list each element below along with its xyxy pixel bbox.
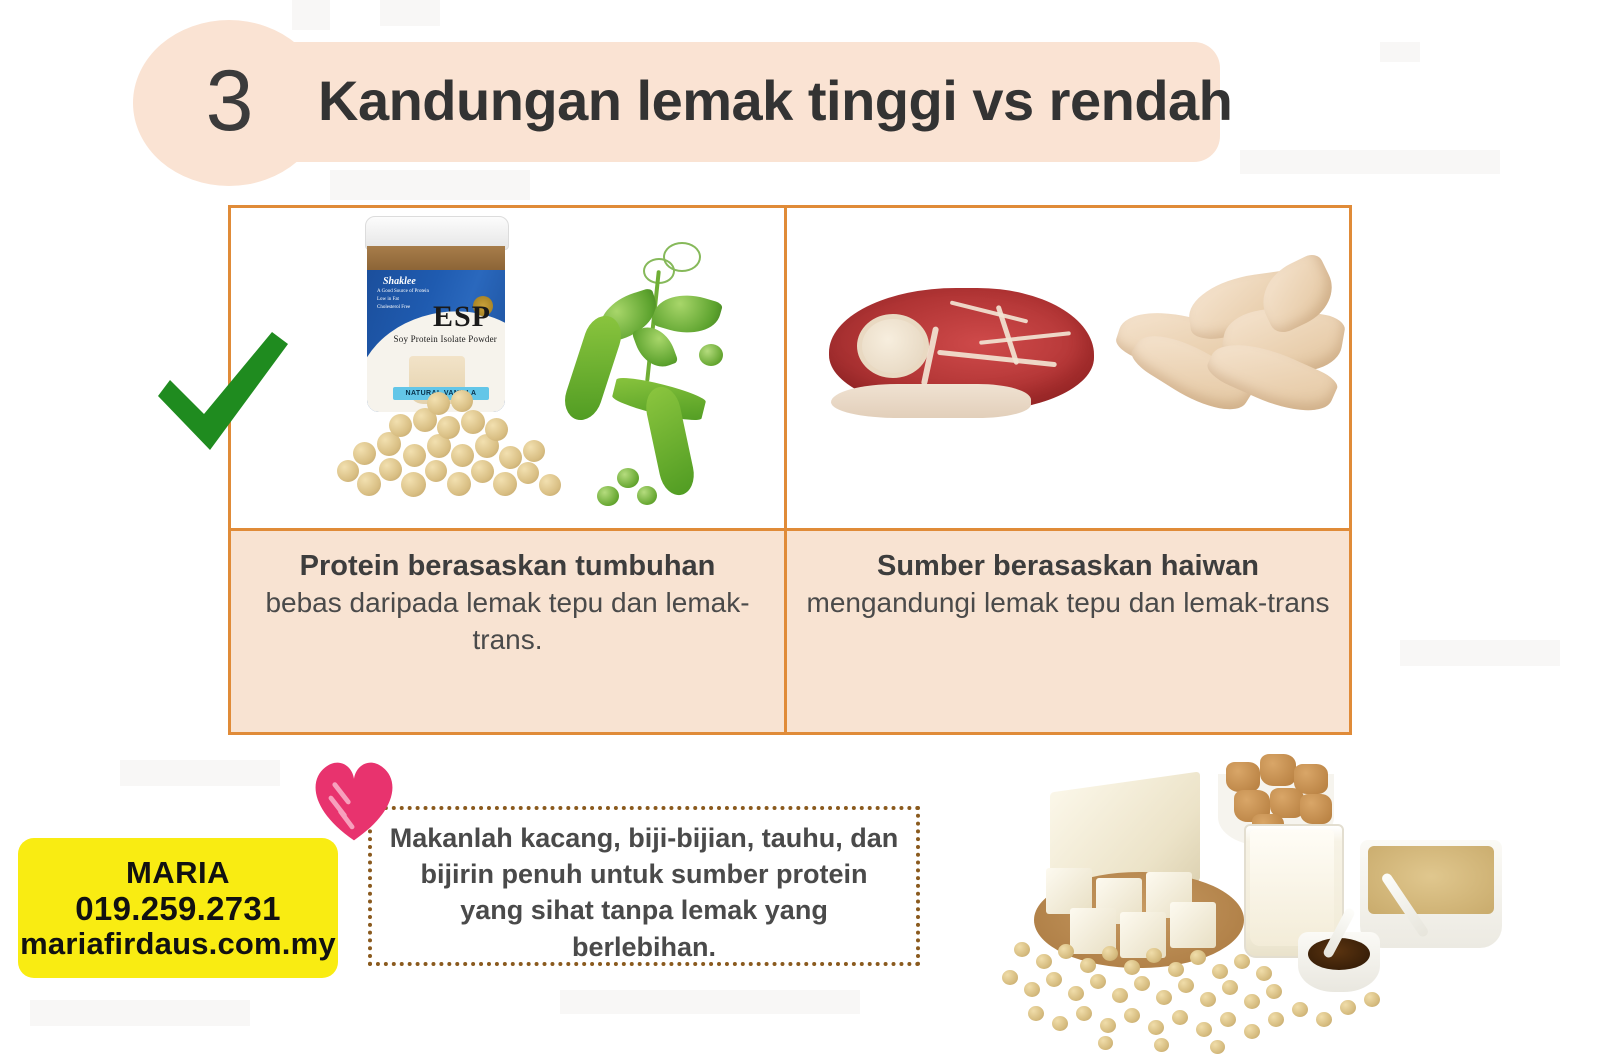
- bg-texture: [1400, 640, 1560, 666]
- product-bullets: A Good Source of Protein Low in Fat Chol…: [377, 288, 429, 311]
- bullet-1: A Good Source of Protein: [377, 288, 429, 296]
- cell-animal-image: [784, 208, 1349, 528]
- bg-texture: [330, 170, 530, 200]
- product-subtitle: Soy Protein Isolate Powder: [394, 334, 497, 344]
- animal-caption-body: mengandungi lemak tepu dan lemak-trans: [803, 585, 1333, 622]
- cell-plant-caption: Protein berasaskan tumbuhan bebas daripa…: [231, 528, 784, 732]
- slide-canvas: 3 Kandungan lemak tinggi vs rendah Shakl…: [0, 0, 1600, 1056]
- plant-caption-title: Protein berasaskan tumbuhan: [247, 549, 768, 583]
- contact-card[interactable]: MARIA 019.259.2731 mariafirdaus.com.my: [18, 838, 338, 978]
- contact-name: MARIA: [126, 856, 230, 891]
- soy-pod-plant: [551, 236, 741, 516]
- bg-texture: [560, 990, 860, 1014]
- tub-collar: [367, 246, 505, 272]
- bg-texture: [292, 0, 330, 30]
- table-row-images: Shaklee A Good Source of Protein Low in …: [231, 208, 1349, 528]
- soybean-pile: [327, 388, 577, 508]
- animal-caption-title: Sumber berasaskan haiwan: [803, 549, 1333, 583]
- bullet-2: Low in Fat: [377, 296, 429, 304]
- section-number: 3: [206, 58, 253, 144]
- contact-website[interactable]: mariafirdaus.com.my: [20, 927, 336, 962]
- tub-lid: [365, 216, 509, 250]
- cell-plant-image: Shaklee A Good Source of Protein Low in …: [231, 208, 784, 528]
- cell-animal-caption: Sumber berasaskan haiwan mengandungi lem…: [784, 528, 1349, 732]
- bg-texture: [120, 760, 280, 786]
- bullet-3: Cholesterol Free: [377, 304, 429, 312]
- table-row-captions: Protein berasaskan tumbuhan bebas daripa…: [231, 528, 1349, 732]
- bg-texture: [380, 0, 440, 26]
- steak-bone: [857, 314, 929, 378]
- beef-steak-photo: [829, 280, 1094, 420]
- chicken-wings-photo: [1112, 256, 1347, 436]
- contact-phone[interactable]: 019.259.2731: [75, 891, 280, 928]
- tip-text: Makanlah kacang, biji-bijian, tauhu, dan…: [386, 820, 902, 965]
- page-title: Kandungan lemak tinggi vs rendah: [318, 68, 1232, 133]
- comparison-table: Shaklee A Good Source of Protein Low in …: [228, 205, 1352, 735]
- soy-products-photo: [968, 744, 1600, 1056]
- heart-icon: [306, 752, 402, 848]
- green-check-icon: [152, 330, 292, 455]
- bg-texture: [30, 1000, 250, 1026]
- product-name: ESP: [433, 300, 491, 334]
- steak-fat: [831, 384, 1031, 418]
- bg-texture: [1240, 150, 1500, 174]
- plant-caption-body: bebas daripada lemak tepu dan lemak-tran…: [247, 585, 768, 659]
- tip-callout-box: Makanlah kacang, biji-bijian, tauhu, dan…: [368, 806, 920, 966]
- bg-texture: [1380, 42, 1420, 62]
- brand-label: Shaklee: [383, 276, 416, 287]
- section-number-badge: 3: [133, 20, 325, 186]
- soy-milk: [1250, 830, 1334, 946]
